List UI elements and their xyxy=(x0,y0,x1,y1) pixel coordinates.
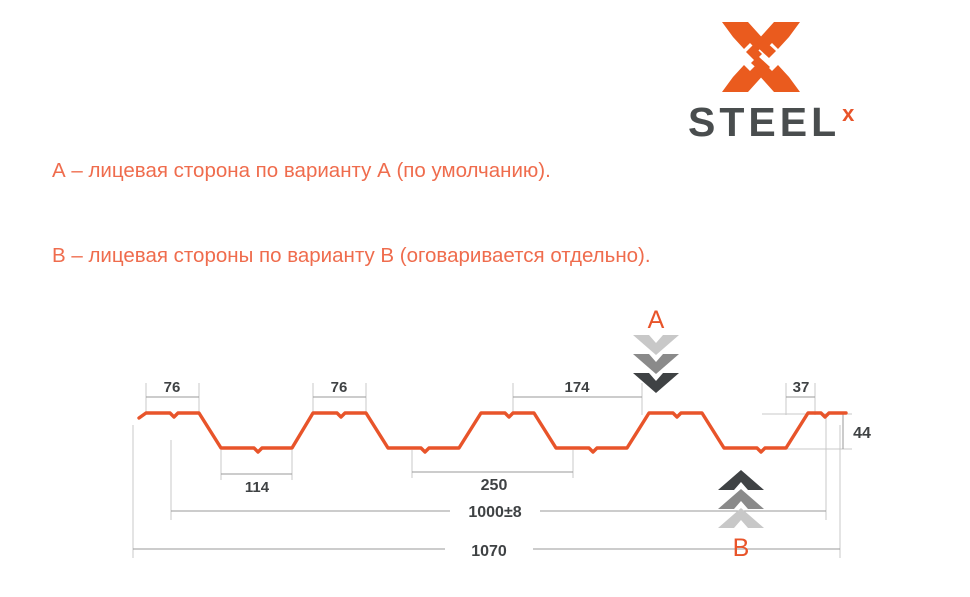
dim-label-76-mid: 76 xyxy=(331,379,348,396)
profile-technical-drawing: 76 76 174 37 114 250 44 1000±8 1070 xyxy=(0,0,970,597)
side-marker-b: B xyxy=(712,468,770,560)
dim-label-76-left: 76 xyxy=(164,379,181,396)
dim-label-114: 114 xyxy=(245,479,270,496)
side-marker-a: A xyxy=(627,307,685,399)
chevron-down-stack-icon xyxy=(627,333,685,395)
corrugated-profile-line xyxy=(139,413,846,452)
dim-label-44: 44 xyxy=(853,425,871,442)
side-marker-b-label: B xyxy=(712,535,770,561)
side-marker-a-label: A xyxy=(627,307,685,333)
chevron-up-stack-icon xyxy=(712,468,770,530)
dim-label-1070: 1070 xyxy=(471,543,507,560)
dim-label-174: 174 xyxy=(564,379,590,396)
dim-label-37: 37 xyxy=(793,379,810,396)
dim-label-250: 250 xyxy=(481,477,508,494)
dim-label-1000: 1000±8 xyxy=(468,504,521,521)
